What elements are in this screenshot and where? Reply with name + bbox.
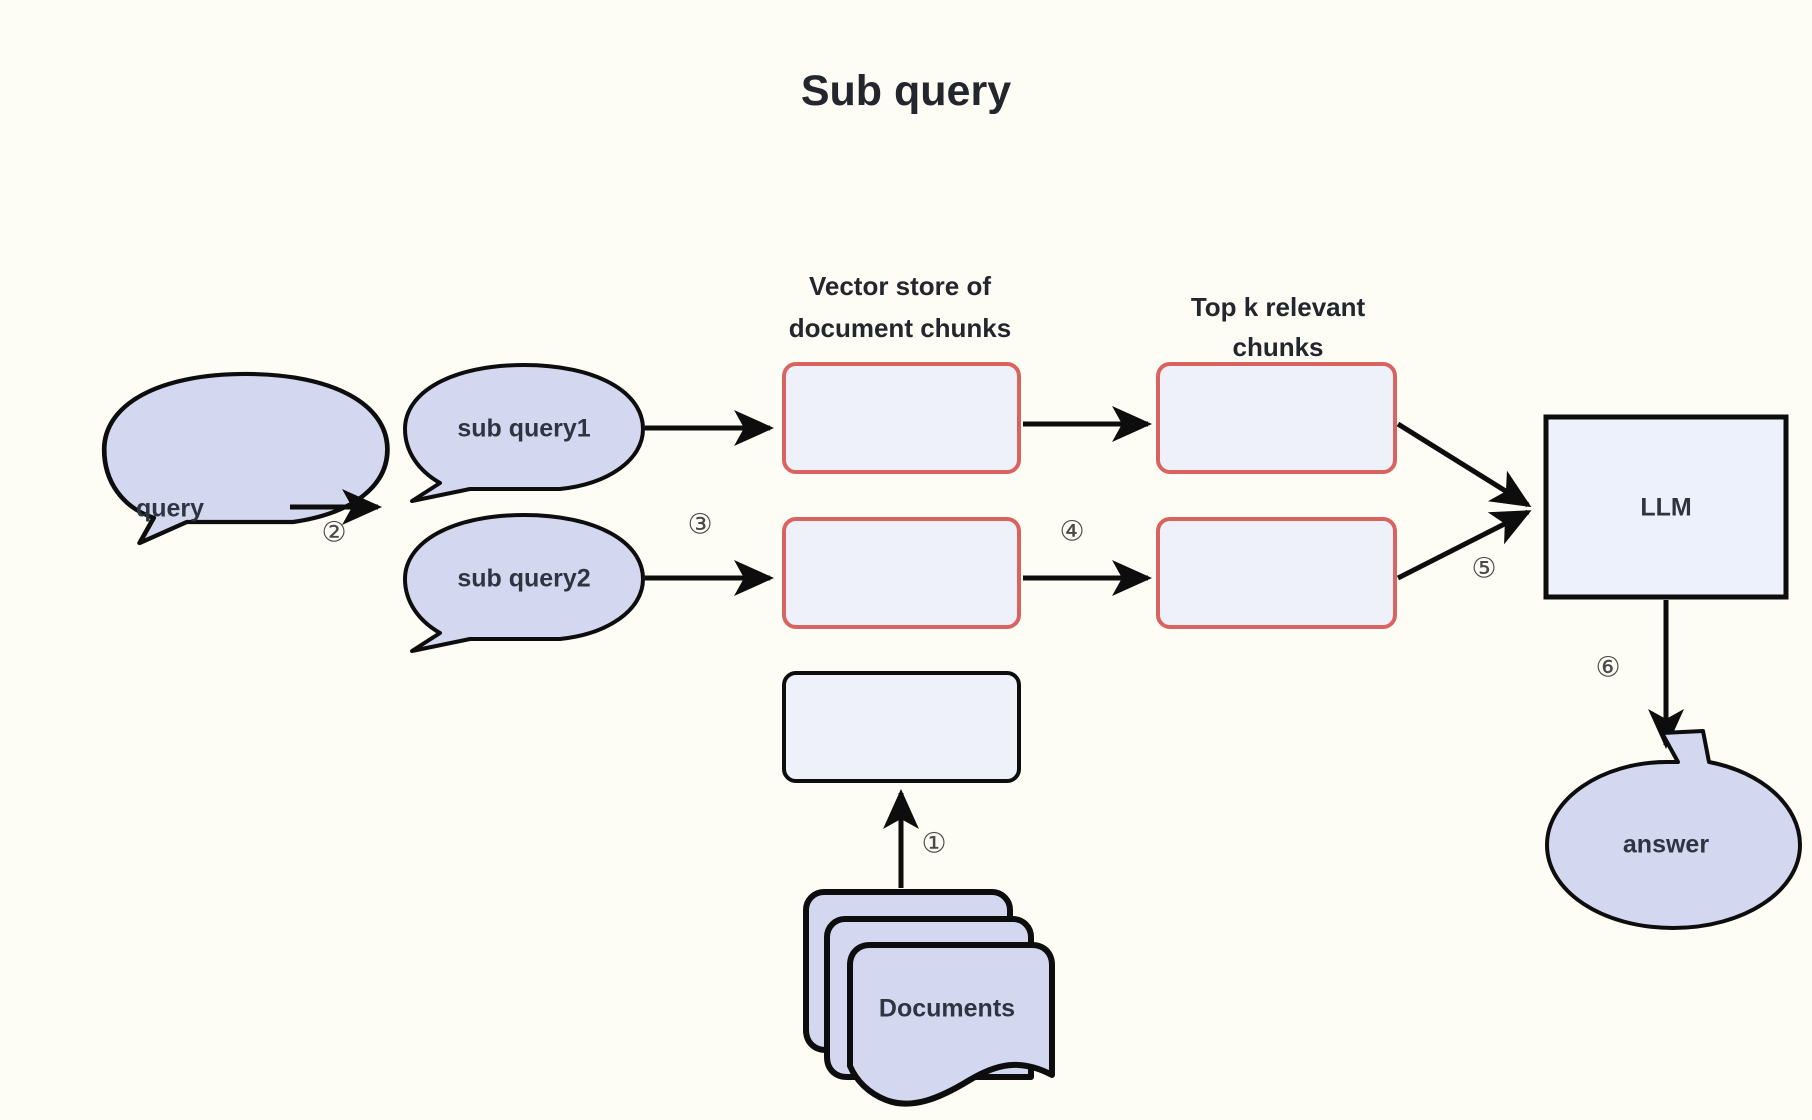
vector-store-base-box[interactable]: [784, 673, 1019, 781]
topk-chunk-box-1[interactable]: [1158, 364, 1395, 472]
top-k-label-line1: Top k relevant: [1191, 292, 1366, 322]
answer-bubble-shape: [1547, 731, 1800, 928]
top-k-label-line2: chunks: [1232, 332, 1323, 362]
vector-store-label-line1: Vector store of: [809, 271, 991, 301]
answer-label: answer: [1623, 831, 1709, 859]
topk-chunk-box-2[interactable]: [1158, 519, 1395, 627]
step-3-number: ③: [687, 508, 712, 539]
vector-chunk-box-2[interactable]: [784, 519, 1019, 627]
node-documents[interactable]: Documents: [806, 892, 1052, 1104]
step-5-number: ⑤: [1471, 552, 1496, 583]
sub-query-flow-diagram: Sub query query ② sub query1 sub query2 …: [0, 0, 1812, 1120]
node-llm[interactable]: LLM: [1546, 417, 1786, 597]
node-sub-query1[interactable]: sub query1: [405, 365, 643, 501]
sub-query1-label: sub query1: [457, 415, 590, 443]
top-k-label: Top k relevant chunks: [1191, 292, 1366, 362]
step-2-number: ②: [321, 516, 346, 547]
page-title: Sub query: [801, 67, 1011, 115]
vector-store-label-line2: document chunks: [789, 313, 1011, 343]
vector-chunk-box-1[interactable]: [784, 364, 1019, 472]
node-answer[interactable]: answer: [1547, 731, 1800, 928]
llm-label: LLM: [1640, 494, 1691, 522]
arrow-topk1-to-llm: [1398, 424, 1528, 505]
diagram-canvas: Sub query query ② sub query1 sub query2 …: [0, 0, 1812, 1120]
step-4-number: ④: [1059, 515, 1084, 546]
documents-label: Documents: [879, 995, 1015, 1023]
arrow-topk2-to-llm: [1398, 512, 1528, 578]
vector-store-label: Vector store of document chunks: [789, 271, 1011, 343]
node-sub-query2[interactable]: sub query2: [405, 515, 643, 651]
query-label: query: [136, 495, 204, 523]
step-6-number: ⑥: [1595, 651, 1620, 682]
step-1-number: ①: [921, 827, 946, 858]
sub-query2-label: sub query2: [457, 565, 590, 593]
